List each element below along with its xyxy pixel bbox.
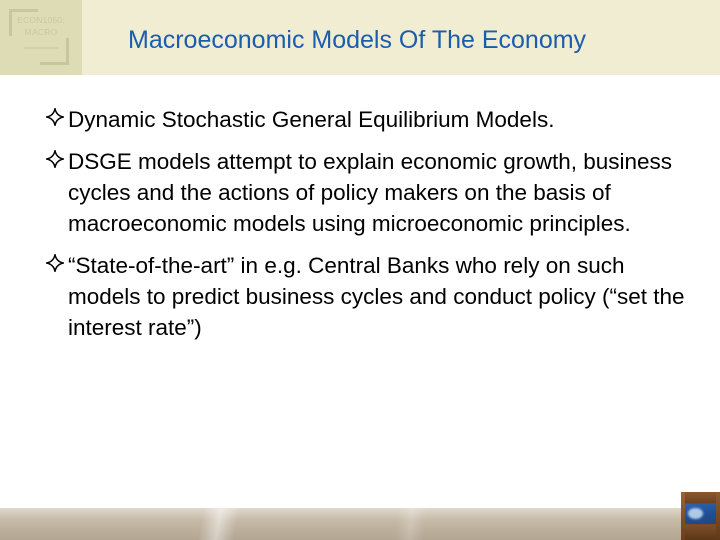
thumbnail-screen-glow	[688, 508, 703, 519]
bullet-item: DSGE models attempt to explain economic …	[46, 146, 694, 239]
bullet-item: “State-of-the-art” in e.g. Central Banks…	[46, 250, 694, 343]
corner-thumbnail-image	[681, 492, 720, 540]
slide-body: Dynamic Stochastic General Equilibrium M…	[46, 104, 694, 343]
course-code-line: ECON1050:	[0, 14, 82, 26]
presentation-slide: ECON1050: MACRO Macroeconomic Models Of …	[0, 0, 720, 540]
logo-underline-rule	[24, 47, 58, 49]
footer-band-sheen	[0, 508, 720, 540]
course-logo-block: ECON1050: MACRO	[0, 0, 82, 75]
slide-footer-photo-band	[0, 508, 720, 540]
four-pointed-star-bullet-icon	[46, 254, 64, 276]
four-pointed-star-bullet-icon	[46, 108, 64, 130]
four-pointed-star-bullet-icon	[46, 150, 64, 172]
course-subject-line: MACRO	[0, 26, 82, 38]
thumbnail-left-post	[681, 492, 685, 540]
course-logo-text: ECON1050: MACRO	[0, 14, 82, 38]
bracket-corner-bottom-right-icon	[40, 38, 69, 65]
thumbnail-shelf-bottom	[681, 525, 720, 540]
thumbnail-shelf-top	[681, 492, 720, 503]
thumbnail-right-post	[716, 492, 720, 540]
bullet-item-text: Dynamic Stochastic General Equilibrium M…	[68, 104, 694, 135]
page-title: Macroeconomic Models Of The Economy	[128, 26, 688, 55]
bullet-item-text: “State-of-the-art” in e.g. Central Banks…	[68, 250, 694, 343]
bullet-item: Dynamic Stochastic General Equilibrium M…	[46, 104, 694, 135]
bullet-item-text: DSGE models attempt to explain economic …	[68, 146, 694, 239]
